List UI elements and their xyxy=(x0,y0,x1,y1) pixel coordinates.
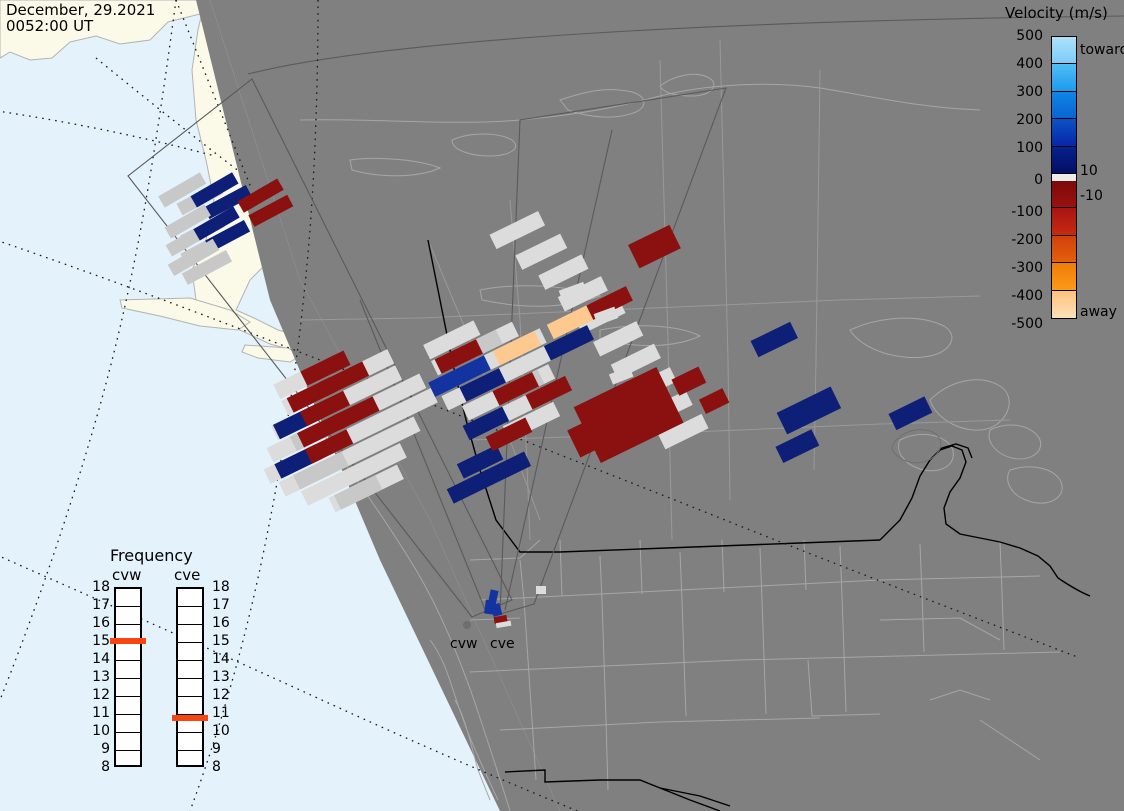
colorbar-side-labels: toward10-10away xyxy=(1080,28,1124,328)
colorbar-segment xyxy=(1052,291,1076,318)
frequency-bar-cell xyxy=(178,625,202,643)
frequency-tick: 15 xyxy=(212,633,230,649)
frequency-bar-cell xyxy=(116,643,140,661)
site-label-cve: cve xyxy=(490,636,515,652)
frequency-bar xyxy=(114,587,142,767)
colorbar-segment xyxy=(1052,181,1076,208)
frequency-bar-cell xyxy=(116,607,140,625)
frequency-tick: 8 xyxy=(88,759,110,775)
colorbar-segment xyxy=(1052,37,1076,64)
frequency-bar-cell xyxy=(178,733,202,751)
frequency-bar-cell xyxy=(178,589,202,607)
frequency-bar-cell xyxy=(116,697,140,715)
frequency-panel: Frequency cvw18171615141312111098cve1817… xyxy=(88,546,238,796)
superdarn-velocity-map: December, 29.2021 0052:00 UT Velocity (m… xyxy=(0,0,1124,811)
frequency-tick: 15 xyxy=(88,633,110,649)
frequency-tick: 9 xyxy=(212,741,221,757)
colorbar-tick: -100 xyxy=(1011,204,1043,220)
colorbar-toward-label: toward xyxy=(1080,42,1124,58)
frequency-tick: 11 xyxy=(88,705,110,721)
frequency-marker xyxy=(172,715,208,721)
colorbar-away-label: away xyxy=(1080,304,1117,320)
frequency-bar-cell xyxy=(178,643,202,661)
frequency-column-label: cvw xyxy=(112,566,141,584)
colorbar-tick-labels: 5004003002001000-100-200-300-400-500 xyxy=(985,28,1047,328)
frequency-bar-cell xyxy=(116,679,140,697)
frequency-tick: 14 xyxy=(88,651,110,667)
frequency-tick: 8 xyxy=(212,759,221,775)
timestamp-time: 0052:00 UT xyxy=(6,17,93,35)
colorbar-segment xyxy=(1052,119,1076,146)
frequency-bar-cell xyxy=(178,661,202,679)
frequency-tick: 16 xyxy=(88,615,110,631)
frequency-tick: 12 xyxy=(212,687,230,703)
colorbar-segment xyxy=(1052,92,1076,119)
colorbar-tick: -500 xyxy=(1011,316,1043,332)
frequency-tick: 12 xyxy=(88,687,110,703)
colorbar-segment xyxy=(1052,236,1076,263)
frequency-bar-cell xyxy=(178,751,202,769)
colorbar-tick: 200 xyxy=(1016,112,1043,128)
velocity-colorbar: Velocity (m/s) 5004003002001000-100-200-… xyxy=(985,0,1124,330)
frequency-tick: 18 xyxy=(88,579,110,595)
frequency-tick: 18 xyxy=(212,579,230,595)
frequency-tick: 10 xyxy=(88,723,110,739)
frequency-bar-cell xyxy=(116,661,140,679)
frequency-title: Frequency xyxy=(110,546,193,565)
colorbar-tick: -300 xyxy=(1011,260,1043,276)
frequency-bar-cell xyxy=(178,697,202,715)
colorbar-segment xyxy=(1052,208,1076,235)
colorbar-title: Velocity (m/s) xyxy=(1005,4,1108,22)
colorbar-lower-threshold: -10 xyxy=(1080,188,1103,204)
colorbar-upper-threshold: 10 xyxy=(1080,163,1098,179)
colorbar-segment xyxy=(1052,64,1076,91)
colorbar-segment xyxy=(1052,147,1076,174)
timestamp-block: December, 29.2021 0052:00 UT xyxy=(6,2,155,34)
frequency-tick: 13 xyxy=(212,669,230,685)
colorbar-tick: 400 xyxy=(1016,56,1043,72)
colorbar-tick: 100 xyxy=(1016,140,1043,156)
frequency-tick: 10 xyxy=(212,723,230,739)
frequency-bar-cell xyxy=(116,751,140,769)
frequency-tick: 13 xyxy=(88,669,110,685)
colorbar-tick: -200 xyxy=(1011,232,1043,248)
frequency-bar-cell xyxy=(116,733,140,751)
frequency-tick: 17 xyxy=(88,597,110,613)
frequency-bar xyxy=(176,587,204,767)
frequency-tick: 14 xyxy=(212,651,230,667)
frequency-column-label: cve xyxy=(174,566,200,584)
frequency-bar-cell xyxy=(116,715,140,733)
frequency-bar-cell xyxy=(178,607,202,625)
frequency-marker xyxy=(110,638,146,644)
colorbar-tick: 300 xyxy=(1016,84,1043,100)
frequency-bar-cell xyxy=(116,589,140,607)
colorbar-gradient-bar xyxy=(1051,36,1077,319)
colorbar-zero-band xyxy=(1052,174,1076,181)
frequency-bar-cell xyxy=(178,679,202,697)
colorbar-tick: 0 xyxy=(1034,172,1043,188)
frequency-tick: 9 xyxy=(88,741,110,757)
frequency-tick: 17 xyxy=(212,597,230,613)
site-label-cvw: cvw xyxy=(450,636,477,652)
colorbar-tick: -400 xyxy=(1011,288,1043,304)
frequency-tick: 11 xyxy=(212,705,230,721)
frequency-tick: 16 xyxy=(212,615,230,631)
colorbar-tick: 500 xyxy=(1016,28,1043,44)
colorbar-segment xyxy=(1052,263,1076,290)
